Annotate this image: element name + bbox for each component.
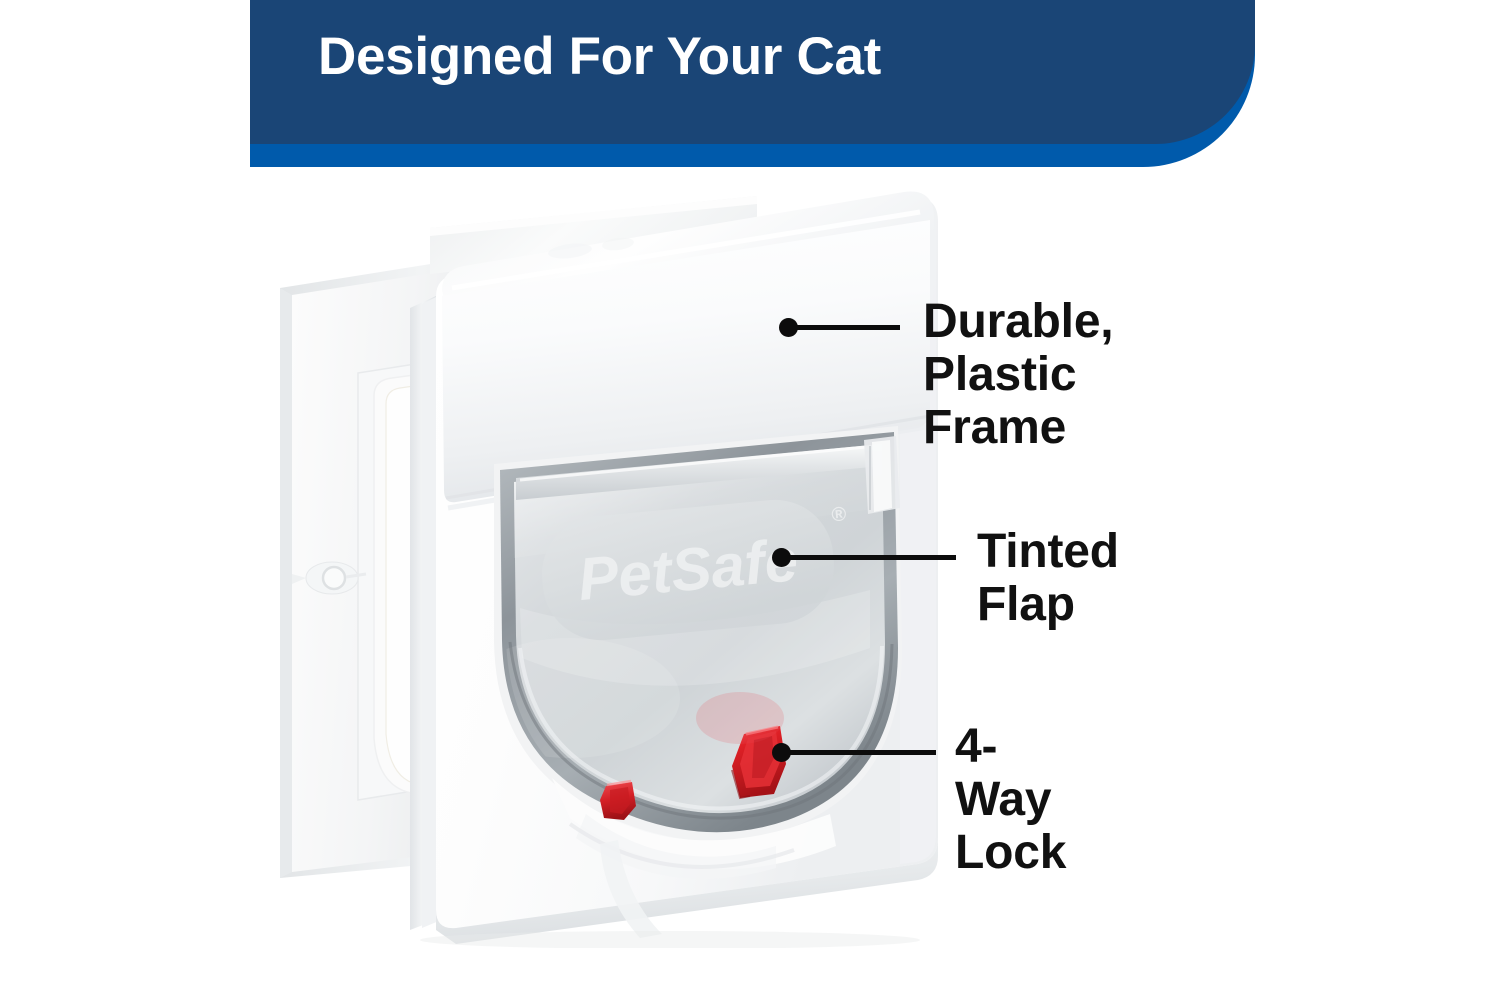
callout-leader-line [781, 555, 956, 560]
callout-leader-line [788, 325, 900, 330]
infographic-canvas: Designed For Your Cat [0, 0, 1500, 1000]
page-title: Designed For Your Cat [318, 30, 881, 83]
brand-trademark-symbol: ® [831, 503, 848, 526]
product-illustration: PetSafe ® [270, 178, 970, 948]
header-banner: Designed For Your Cat [250, 0, 1500, 167]
callout-label-tinted-flap: Tinted Flap [977, 525, 1119, 631]
callout-label-durable-plastic-frame: Durable, Plastic Frame [923, 295, 1113, 454]
callout-label-four-way-lock: 4-Way Lock [955, 720, 1066, 879]
callout-leader-line [781, 750, 936, 755]
